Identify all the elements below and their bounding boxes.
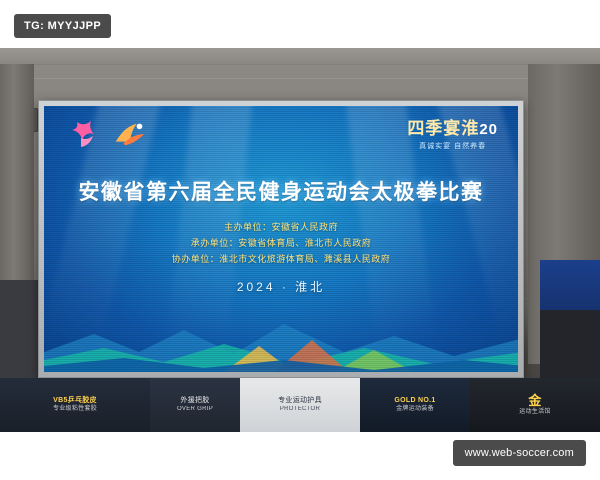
banner-line2: 金牌运动装备 xyxy=(394,406,435,414)
games-emblem-icon xyxy=(66,118,102,150)
banner-line1: GOLD NO.1 xyxy=(394,397,435,406)
banner-item: VB5乒乓胶皮 专业级粘性套胶 xyxy=(0,378,150,432)
event-sponsor-mark: 四季宴淮20 真诚实宴 自然养春 xyxy=(407,114,498,151)
led-screen-frame: 四季宴淮20 真诚实宴 自然养春 安徽省第六届全民健身运动会太极拳比赛 主办单位… xyxy=(38,100,524,378)
led-line-host: 主办单位：安徽省人民政府 xyxy=(44,219,518,235)
banner-line1: 外援把胶 xyxy=(177,397,213,406)
led-screen: 四季宴淮20 真诚实宴 自然养春 安徽省第六届全民健身运动会太极拳比赛 主办单位… xyxy=(44,106,518,372)
banner-line1: 专业运动护具 xyxy=(278,397,322,406)
led-line-coorganizer: 协办单位：淮北市文化旅游体育局、濉溪县人民政府 xyxy=(44,251,518,267)
wall-seam xyxy=(0,78,600,79)
screenshot-root: 四季宴淮20 真诚实宴 自然养春 安徽省第六届全民健身运动会太极拳比赛 主办单位… xyxy=(0,0,600,480)
taiji-emblem-icon xyxy=(112,118,148,150)
banner-item: GOLD NO.1 金牌运动装备 xyxy=(360,378,470,432)
blue-signage-panel xyxy=(540,260,600,310)
photo-area: 四季宴淮20 真诚实宴 自然养春 安徽省第六届全民健身运动会太极拳比赛 主办单位… xyxy=(0,48,600,432)
banner-strip: VB5乒乓胶皮 专业级粘性套胶 外援把胶 OVER GRIP 专业运动护具 PR… xyxy=(0,378,600,432)
event-mark-number: 20 xyxy=(479,121,498,138)
led-title: 安徽省第六届全民健身运动会太极拳比赛 xyxy=(44,176,518,206)
dark-panel-right xyxy=(540,310,600,380)
tg-badge: TG: MYYJJPP xyxy=(14,14,111,38)
banner-line1: 金 xyxy=(519,393,551,409)
banner-line2: 专业级粘性套胶 xyxy=(53,406,97,414)
banner-item: 专业运动护具 PROTECTOR xyxy=(240,378,360,432)
led-date-location: 2024 · 淮北 xyxy=(44,278,518,295)
event-mark-sub: 真诚实宴 自然养春 xyxy=(407,141,498,151)
banner-line2: PROTECTOR xyxy=(278,406,322,414)
event-mark-highlight: 淮 xyxy=(461,119,479,138)
banner-item: 外援把胶 OVER GRIP xyxy=(150,378,240,432)
ceiling-strip xyxy=(0,48,600,65)
banner-line2: OVER GRIP xyxy=(177,406,213,414)
banner-line1: VB5乒乓胶皮 xyxy=(53,397,97,406)
led-line-organizer: 承办单位：安徽省体育局、淮北市人民政府 xyxy=(44,235,518,251)
led-logo-row xyxy=(66,118,148,150)
site-watermark-badge: www.web-soccer.com xyxy=(453,440,586,466)
dark-panel-left xyxy=(0,280,40,380)
banner-item: 金 运动生活馆 xyxy=(470,378,600,432)
mountain-graphic xyxy=(44,294,518,372)
led-organizer-lines: 主办单位：安徽省人民政府 承办单位：安徽省体育局、淮北市人民政府 协办单位：淮北… xyxy=(44,219,518,267)
event-mark-main: 四季宴 xyxy=(407,119,461,138)
banner-line2: 运动生活馆 xyxy=(519,409,551,417)
